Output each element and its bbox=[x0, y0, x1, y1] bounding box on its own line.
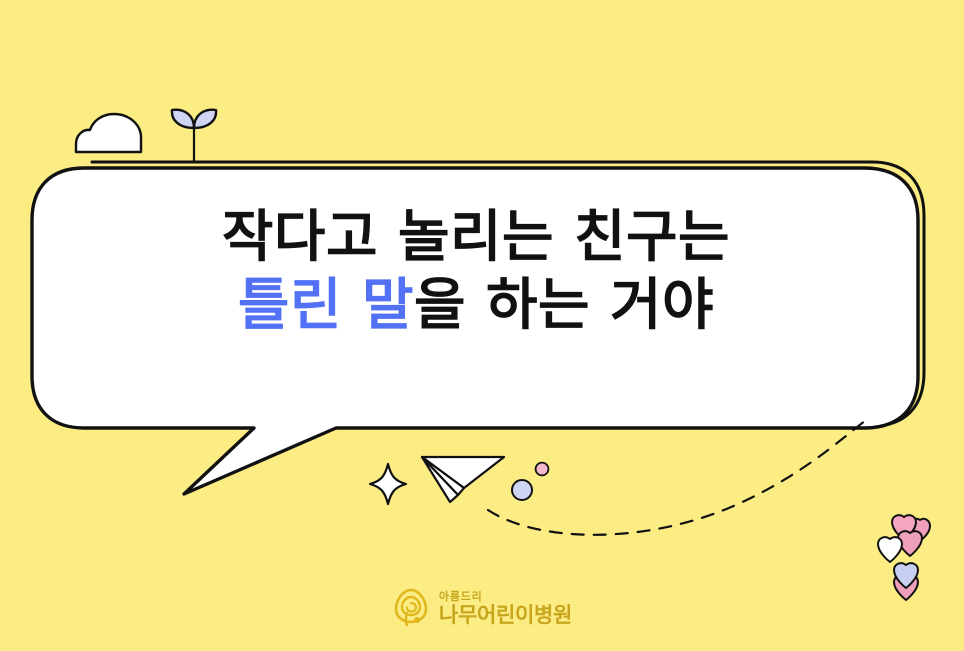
page-title: 작다고 놀리는 친구는 틀린 말을 하는 거야 bbox=[26, 204, 926, 341]
headline-accent: 틀린 말 bbox=[238, 273, 414, 338]
tree-seal-icon bbox=[392, 587, 430, 629]
poster-canvas: 작다고 놀리는 친구는 틀린 말을 하는 거야 bbox=[0, 0, 964, 651]
logo-name: 나무어린이병원 bbox=[439, 605, 572, 626]
hospital-logo: 아름드리 나무어린이병원 bbox=[0, 587, 964, 629]
logo-wordmark: 아름드리 나무어린이병원 bbox=[439, 591, 572, 626]
headline-line-2-rest: 을 하는 거야 bbox=[414, 273, 714, 338]
cloud-icon bbox=[74, 108, 164, 154]
logo-subtitle: 아름드리 bbox=[439, 591, 572, 602]
headline-line-2: 틀린 말을 하는 거야 bbox=[26, 272, 926, 340]
headline-line-1: 작다고 놀리는 친구는 bbox=[26, 204, 926, 272]
